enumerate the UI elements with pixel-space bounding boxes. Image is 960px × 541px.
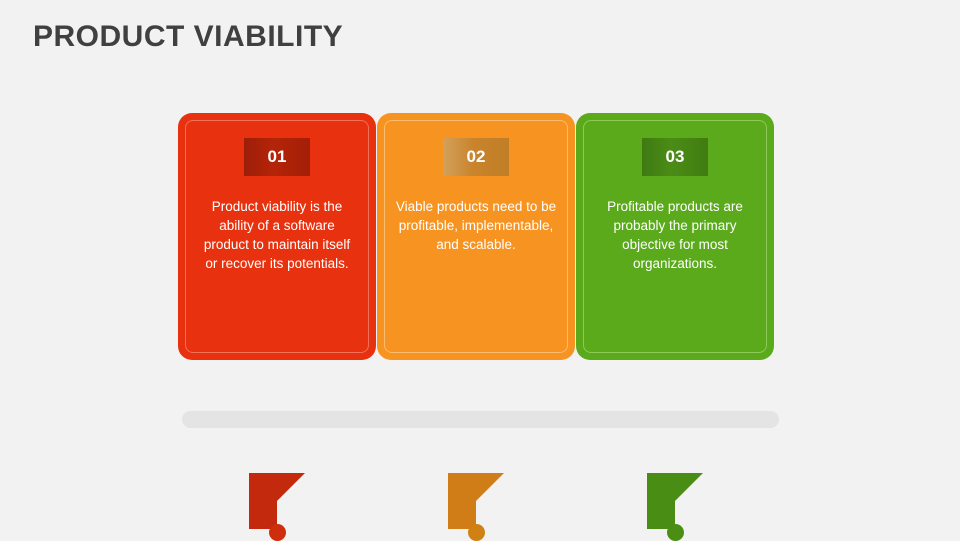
timeline-dot-01 — [269, 524, 286, 541]
card-item-01[interactable]: 01 Product viability is the ability of a… — [178, 113, 376, 360]
card-body-02[interactable]: 02 Viable products need to be profitable… — [377, 113, 575, 360]
card-text-03: Profitable products are probably the pri… — [594, 197, 756, 273]
card-tail-02 — [448, 473, 560, 529]
timeline-dot-02 — [468, 524, 485, 541]
card-number-badge-01: 01 — [244, 138, 310, 176]
card-item-03[interactable]: 03 Profitable products are probably the … — [576, 113, 774, 360]
slide-canvas: PRODUCT VIABILITY 01 Product viability i… — [0, 0, 960, 540]
card-tail-01 — [249, 473, 361, 529]
card-number-badge-03: 03 — [642, 138, 708, 176]
card-body-01[interactable]: 01 Product viability is the ability of a… — [178, 113, 376, 360]
cards-container: 01 Product viability is the ability of a… — [0, 0, 960, 540]
timeline-dot-03 — [667, 524, 684, 541]
card-item-02[interactable]: 02 Viable products need to be profitable… — [377, 113, 575, 360]
card-text-01: Product viability is the ability of a so… — [196, 197, 358, 273]
card-text-02: Viable products need to be profitable, i… — [395, 197, 557, 254]
card-tail-03 — [647, 473, 759, 529]
card-body-03[interactable]: 03 Profitable products are probably the … — [576, 113, 774, 360]
card-number-badge-02: 02 — [443, 138, 509, 176]
